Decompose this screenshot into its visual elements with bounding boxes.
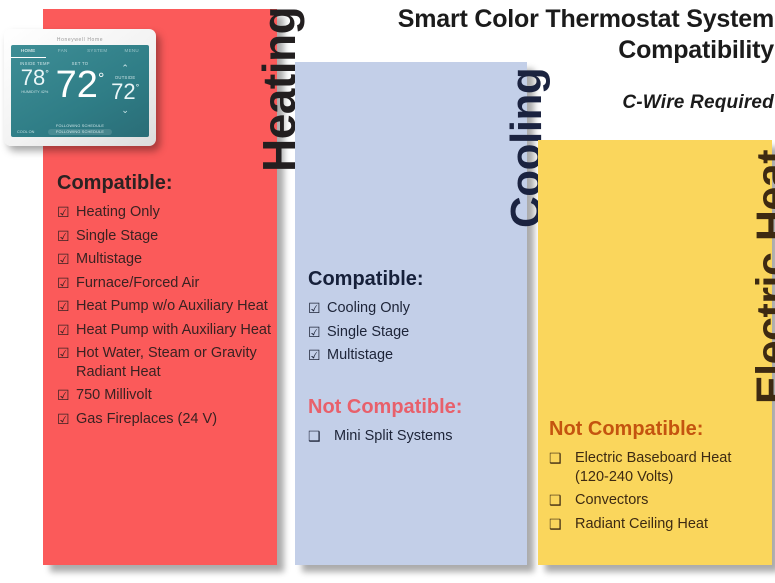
- checkbox-unchecked-icon: ❑: [549, 491, 565, 509]
- checkbox-unchecked-icon: ❑: [549, 449, 565, 467]
- thermostat-tab-home: HOME: [11, 45, 46, 58]
- degree-icon: °: [136, 83, 140, 93]
- list-item-label: Radiant Ceiling Heat: [575, 515, 708, 534]
- list-item-label: Single Stage: [76, 227, 158, 246]
- thermostat-inside-temp: 78°: [14, 66, 56, 89]
- thermostat-current-temp: 72°: [56, 66, 105, 104]
- chevron-up-icon: ⌃: [104, 61, 146, 75]
- list-item-label: Heat Pump with Auxiliary Heat: [76, 321, 271, 340]
- cooling-not-compatible-list: ❑ Mini Split Systems: [308, 427, 513, 446]
- thermostat-status-pill: FOLLOWING SCHEDULE: [48, 129, 112, 135]
- cooling-not-compatible-heading: Not Compatible:: [308, 396, 513, 418]
- thermostat-status-area: FOLLOWING SCHEDULE FOLLOWING SCHEDULE: [11, 124, 149, 135]
- list-item-label: Single Stage: [327, 323, 409, 342]
- list-item-label: Furnace/Forced Air: [76, 274, 199, 293]
- thermostat-tab-system: SYSTEM: [80, 45, 115, 58]
- list-item-label: Convectors: [575, 491, 648, 510]
- panel-electric-heat-label: Electric Heat: [748, 150, 775, 404]
- list-item: ☑ 750 Millivolt: [57, 386, 272, 405]
- list-item: ☑ Cooling Only: [308, 299, 513, 318]
- thermostat-outside-caption: OUTSIDE: [104, 75, 146, 80]
- thermostat-setto-caption: SET TO: [56, 61, 105, 66]
- thermostat-current-temp-value: 72: [56, 64, 98, 106]
- page-title-line-1: Smart Color Thermostat System: [330, 4, 774, 35]
- thermostat-tab-bar: HOME FAN SYSTEM MENU: [11, 45, 149, 58]
- thermostat-inside-column: INSIDE TEMP 78° HUMIDITY 42%: [14, 61, 56, 94]
- list-item-label: Heating Only: [76, 203, 160, 222]
- page-title-line-2: Compatibility: [330, 35, 774, 66]
- cooling-compatible-heading: Compatible:: [308, 268, 513, 290]
- heating-compatible-heading: Compatible:: [57, 172, 272, 194]
- list-item: ☑ Multistage: [308, 346, 513, 365]
- thermostat-tab-menu: MENU: [115, 45, 150, 58]
- checkbox-checked-icon: ☑: [57, 250, 73, 268]
- thermostat-readout: INSIDE TEMP 78° HUMIDITY 42% SET TO 72° …: [11, 58, 149, 116]
- list-item: ☑ Multistage: [57, 250, 272, 269]
- list-item-label: Multistage: [76, 250, 142, 269]
- electric-not-compatible-list: ❑ Electric Baseboard Heat (120-240 Volts…: [549, 449, 765, 533]
- checkbox-checked-icon: ☑: [308, 299, 324, 317]
- cooling-section-spacer: [308, 370, 513, 396]
- heating-compatible-list: ☑ Heating Only ☑ Single Stage ☑ Multista…: [57, 203, 272, 428]
- list-item: ☑ Heating Only: [57, 203, 272, 222]
- thermostat-status-caption: FOLLOWING SCHEDULE: [11, 124, 149, 128]
- panel-heating-content: Compatible: ☑ Heating Only ☑ Single Stag…: [57, 172, 272, 433]
- checkbox-checked-icon: ☑: [57, 203, 73, 221]
- list-item-label: 750 Millivolt: [76, 386, 152, 405]
- thermostat-screen: HOME FAN SYSTEM MENU INSIDE TEMP 78° HUM…: [11, 45, 149, 137]
- checkbox-unchecked-icon: ❑: [308, 427, 324, 445]
- thermostat-tab-fan: FAN: [46, 45, 81, 58]
- chevron-down-icon: ⌄: [104, 103, 146, 117]
- list-item-label: Multistage: [327, 346, 393, 365]
- checkbox-checked-icon: ☑: [57, 227, 73, 245]
- panel-cooling-content: Compatible: ☑ Cooling Only ☑ Single Stag…: [308, 268, 513, 450]
- thermostat-outside-column: ⌃ OUTSIDE 72° ⌄: [104, 61, 146, 118]
- cooling-compatible-list: ☑ Cooling Only ☑ Single Stage ☑ Multista…: [308, 299, 513, 365]
- list-item: ☑ Hot Water, Steam or Gravity Radiant He…: [57, 344, 272, 381]
- list-item: ☑ Heat Pump w/o Auxiliary Heat: [57, 297, 272, 316]
- checkbox-checked-icon: ☑: [308, 346, 324, 364]
- list-item: ☑ Gas Fireplaces (24 V): [57, 410, 272, 429]
- list-item: ❑ Mini Split Systems: [308, 427, 513, 446]
- checkbox-unchecked-icon: ❑: [549, 515, 565, 533]
- checkbox-checked-icon: ☑: [57, 297, 73, 315]
- list-item-label: Mini Split Systems: [334, 427, 452, 446]
- thermostat-humidity-label: HUMIDITY 42%: [14, 90, 56, 94]
- degree-icon: °: [45, 69, 49, 79]
- list-item: ☑ Single Stage: [308, 323, 513, 342]
- checkbox-checked-icon: ☑: [57, 344, 73, 362]
- list-item: ☑ Single Stage: [57, 227, 272, 246]
- checkbox-checked-icon: ☑: [308, 323, 324, 341]
- list-item: ❑ Radiant Ceiling Heat: [549, 515, 765, 534]
- checkbox-checked-icon: ☑: [57, 274, 73, 292]
- thermostat-outside-temp: 72°: [104, 80, 146, 103]
- list-item-label: Cooling Only: [327, 299, 410, 318]
- electric-not-compatible-heading: Not Compatible:: [549, 418, 765, 440]
- list-item: ☑ Heat Pump with Auxiliary Heat: [57, 321, 272, 340]
- thermostat-product-image: Honeywell Home HOME FAN SYSTEM MENU INSI…: [4, 29, 156, 146]
- list-item-label: Electric Baseboard Heat (120-240 Volts): [575, 449, 765, 486]
- list-item: ☑ Furnace/Forced Air: [57, 274, 272, 293]
- thermostat-brand-label: Honeywell Home: [11, 35, 149, 45]
- thermostat-inside-temp-value: 78: [21, 65, 45, 90]
- thermostat-setpoint-column: SET TO 72°: [56, 61, 105, 104]
- panel-electric-heat-content: Not Compatible: ❑ Electric Baseboard Hea…: [549, 418, 765, 538]
- thermostat-outside-temp-value: 72: [111, 79, 135, 104]
- list-item: ❑ Electric Baseboard Heat (120-240 Volts…: [549, 449, 765, 486]
- checkbox-checked-icon: ☑: [57, 410, 73, 428]
- page-title: Smart Color Thermostat System Compatibil…: [330, 4, 774, 65]
- thermostat-inside-caption: INSIDE TEMP: [14, 61, 56, 66]
- list-item-label: Gas Fireplaces (24 V): [76, 410, 217, 429]
- list-item-label: Hot Water, Steam or Gravity Radiant Heat: [76, 344, 272, 381]
- list-item-label: Heat Pump w/o Auxiliary Heat: [76, 297, 268, 316]
- list-item: ❑ Convectors: [549, 491, 765, 510]
- checkbox-checked-icon: ☑: [57, 321, 73, 339]
- checkbox-checked-icon: ☑: [57, 386, 73, 404]
- infographic-canvas: Smart Color Thermostat System Compatibil…: [0, 0, 775, 583]
